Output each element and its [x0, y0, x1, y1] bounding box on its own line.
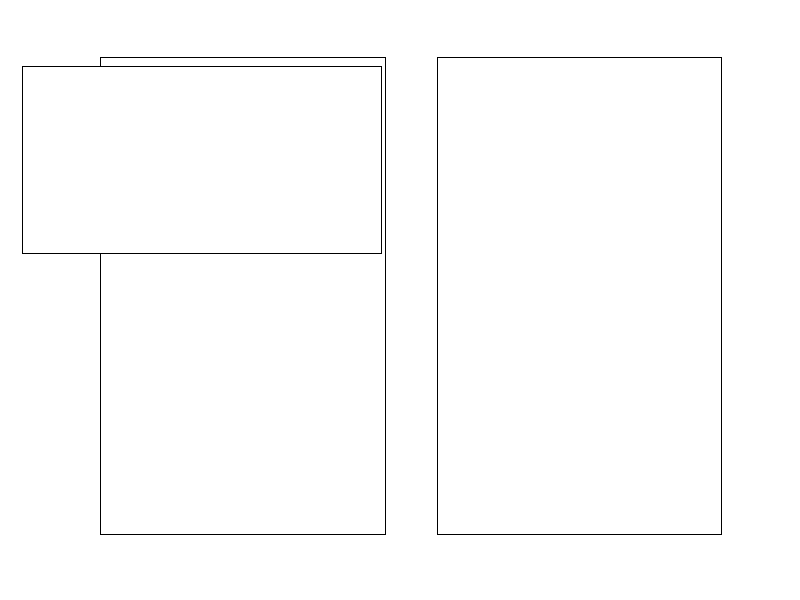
plot-legend[interactable] [22, 66, 382, 254]
histogram-axes [437, 57, 722, 535]
figure-canvas [0, 0, 800, 600]
legend-marker-canvas [23, 67, 381, 253]
histogram-canvas [438, 58, 721, 534]
